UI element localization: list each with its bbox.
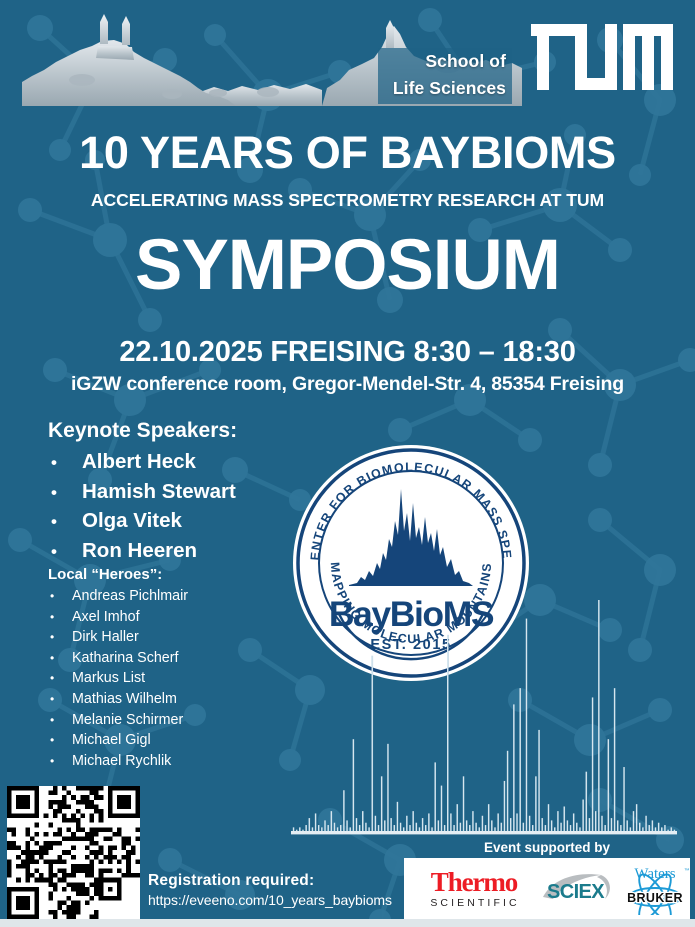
spectrum-peak	[463, 776, 465, 832]
spectrum-peak	[343, 790, 345, 832]
spectrum-peak	[318, 825, 320, 832]
keynote-speaker-name: Olga Vitek	[82, 507, 182, 536]
spectrum-peak	[658, 823, 660, 832]
spectrum-peak	[406, 816, 408, 832]
spectrum-peak	[400, 823, 402, 832]
spectrum-peak	[611, 818, 613, 832]
local-speaker-name: Andreas Pichlmair	[72, 586, 188, 607]
spectrum-peak	[592, 697, 594, 832]
local-speaker-list: • Andreas Pichlmair • Axel Imhof • Dirk …	[48, 586, 188, 771]
spectrum-peak	[438, 820, 440, 832]
spectrum-peak	[375, 816, 377, 832]
keynote-speaker-name: Hamish Stewart	[82, 478, 236, 507]
spectrum-peak	[453, 825, 455, 832]
local-speaker-name: Melanie Schirmer	[72, 710, 183, 731]
bullet-icon: •	[48, 751, 72, 772]
spectrum-peak	[456, 804, 458, 832]
spectrum-peak	[305, 825, 307, 832]
thermo-wordmark: Thermo	[431, 869, 517, 896]
spectrum-peak	[516, 813, 518, 832]
spectrum-peak	[519, 688, 521, 832]
bullet-icon: •	[48, 508, 82, 537]
school-line-1: School of	[378, 48, 512, 75]
svg-text:™: ™	[684, 868, 690, 874]
spectrum-peak	[545, 825, 547, 832]
spectrum-peak	[447, 635, 449, 832]
spectrum-peak	[434, 762, 436, 832]
spectrum-peak	[626, 820, 628, 832]
local-speaker-name: Katharina Scherf	[72, 648, 179, 669]
spectrum-peak	[390, 818, 392, 832]
registration-info: Registration required: https://eveeno.co…	[148, 872, 392, 908]
spectrum-peak	[614, 688, 616, 832]
spectrum-peak	[491, 820, 493, 832]
local-speaker-name: Dirk Haller	[72, 627, 139, 648]
spectrum-peak	[359, 825, 361, 832]
spectrum-peak	[570, 825, 572, 832]
spectrum-peak	[507, 751, 509, 832]
registration-url[interactable]: https://eveeno.com/10_years_baybioms	[148, 892, 392, 908]
local-speaker-name: Michael Rychlik	[72, 751, 171, 772]
spectrum-peak	[532, 825, 534, 832]
keynote-speakers-section: Keynote Speakers: • Albert Heck • Hamish…	[48, 419, 237, 566]
spectrum-peak	[538, 730, 540, 832]
bullet-icon: •	[48, 607, 72, 628]
spectrum-peak	[384, 820, 386, 832]
spectrum-peak	[620, 825, 622, 832]
spectrum-peak	[324, 820, 326, 832]
mass-spectrum-chart	[288, 596, 680, 838]
spectrum-peak	[488, 804, 490, 832]
spectrum-peak	[601, 816, 603, 832]
spectrum-peak	[441, 786, 443, 832]
spectrum-peak	[409, 825, 411, 832]
sponsor-logos: Thermo SCIENTIFIC SCIEX Waters ™ BRUKER	[404, 858, 690, 920]
list-item: • Olga Vitek	[48, 507, 237, 537]
spectrum-peak	[664, 825, 666, 832]
spectrum-peak	[469, 825, 471, 832]
spectrum-peak	[485, 825, 487, 832]
spectrum-peak	[604, 825, 606, 832]
school-line-2: Life Sciences	[378, 75, 512, 102]
spectrum-peak	[327, 825, 329, 832]
spectrum-peak	[309, 818, 311, 832]
spectrum-peak	[425, 825, 427, 832]
spectrum-peak	[563, 806, 565, 832]
list-item: • Andreas Pichlmair	[48, 586, 188, 607]
event-type-title: SYMPOSIUM	[0, 225, 695, 306]
spectrum-peak	[608, 739, 610, 832]
list-item: • Hamish Stewart	[48, 478, 237, 508]
list-item: • Ron Heeren	[48, 537, 237, 567]
thermo-subtext: SCIENTIFIC	[428, 897, 519, 910]
sponsor-logo-thermo: Thermo SCIENTIFIC	[404, 869, 538, 910]
local-speaker-name: Mathias Wilhelm	[72, 689, 177, 710]
spectrum-peak	[548, 804, 550, 832]
spectrum-peak	[576, 823, 578, 832]
spectrum-peak	[482, 816, 484, 832]
spectrum-peak	[595, 811, 597, 832]
spectrum-peak	[623, 767, 625, 832]
list-item: • Dirk Haller	[48, 627, 188, 648]
school-of-life-sciences-label: School of Life Sciences	[378, 48, 512, 104]
local-speaker-name: Axel Imhof	[72, 607, 140, 628]
spectrum-peak	[560, 823, 562, 832]
bullet-icon: •	[48, 586, 72, 607]
spectrum-peak	[513, 704, 515, 832]
bottom-edge-strip	[0, 919, 695, 927]
registration-label: Registration required:	[148, 872, 392, 890]
bullet-icon: •	[48, 710, 72, 731]
spectrum-peak	[582, 800, 584, 832]
list-item: • Mathias Wilhelm	[48, 689, 188, 710]
spectrum-peak	[645, 816, 647, 832]
spectrum-peak	[617, 820, 619, 832]
spectrum-peak	[535, 776, 537, 832]
spectrum-peak	[529, 816, 531, 832]
local-speaker-name: Michael Gigl	[72, 730, 151, 751]
list-item: • Axel Imhof	[48, 607, 188, 628]
spectrum-peak	[648, 825, 650, 832]
page-subtitle: ACCELERATING MASS SPECTROMETRY RESEARCH …	[0, 190, 695, 211]
local-speaker-name: Markus List	[72, 668, 145, 689]
event-venue: iGZW conference room, Gregor-Mendel-Str.…	[0, 373, 695, 396]
spectrum-peak	[340, 825, 342, 832]
svg-text:SCIEX: SCIEX	[547, 881, 605, 903]
tum-logo-icon	[531, 24, 673, 90]
spectrum-peak	[315, 813, 317, 832]
spectrum-peak	[346, 820, 348, 832]
spectrum-peak	[598, 600, 600, 832]
spectrum-peak	[387, 744, 389, 832]
spectrum-peak	[331, 811, 333, 832]
spectrum-peak	[589, 818, 591, 832]
spectrum-peak	[428, 813, 430, 832]
svg-text:BRUKER: BRUKER	[627, 891, 683, 905]
registration-qr-code[interactable]	[7, 786, 140, 919]
spectrum-peak	[586, 772, 588, 832]
list-item: • Katharina Scherf	[48, 648, 188, 669]
spectrum-peak	[472, 811, 474, 832]
spectrum-peak	[501, 823, 503, 832]
event-date-time: 22.10.2025 FREISING 8:30 – 18:30	[0, 336, 695, 369]
poster-header: School of Life Sciences	[0, 0, 695, 112]
local-speakers-section: Local “Heroes”: • Andreas Pichlmair • Ax…	[48, 566, 188, 771]
spectrum-peak	[422, 818, 424, 832]
spectrum-peak	[394, 825, 396, 832]
spectrum-peak	[416, 823, 418, 832]
spectrum-peak	[444, 825, 446, 832]
bullet-icon: •	[48, 730, 72, 751]
spectrum-peak	[639, 823, 641, 832]
spectrum-peak	[557, 811, 559, 832]
bullet-icon: •	[48, 449, 82, 478]
page-title: 10 YEARS OF BAYBIOMS	[0, 127, 695, 179]
bullet-icon: •	[48, 627, 72, 648]
spectrum-peak	[450, 813, 452, 832]
bullet-icon: •	[48, 538, 82, 567]
spectrum-peak	[362, 811, 364, 832]
local-heroes-heading: Local “Heroes”:	[48, 566, 188, 583]
spectrum-peak	[567, 820, 569, 832]
spectrum-peak	[365, 823, 367, 832]
spectrum-peak	[466, 820, 468, 832]
spectrum-peak	[378, 825, 380, 832]
svg-text:Waters: Waters	[634, 866, 675, 882]
spectrum-peak	[460, 823, 462, 832]
list-item: • Michael Gigl	[48, 730, 188, 751]
keynote-speaker-list: • Albert Heck • Hamish Stewart • Olga Vi…	[48, 448, 237, 566]
list-item: • Albert Heck	[48, 448, 237, 478]
poster-canvas: School of Life Sciences 10 YEARS OF BAYB…	[0, 0, 695, 927]
spectrum-peak	[412, 811, 414, 832]
spectrum-peak	[551, 820, 553, 832]
spectrum-peak	[334, 823, 336, 832]
bullet-icon: •	[48, 479, 82, 508]
spectrum-peak	[371, 656, 373, 832]
sponsor-logo-sciex: SCIEX	[538, 867, 620, 911]
sponsor-logos-waters-bruker: Waters ™ BRUKER	[620, 863, 690, 915]
spectrum-peak	[356, 818, 358, 832]
list-item: • Michael Rychlik	[48, 751, 188, 772]
list-item: • Melanie Schirmer	[48, 710, 188, 731]
spectrum-peak	[573, 813, 575, 832]
list-item: • Markus List	[48, 668, 188, 689]
keynote-speaker-name: Albert Heck	[82, 448, 196, 477]
spectrum-peak	[636, 804, 638, 832]
spectrum-peak	[541, 818, 543, 832]
bullet-icon: •	[48, 668, 72, 689]
keynote-speaker-name: Ron Heeren	[82, 537, 197, 566]
bullet-icon: •	[48, 689, 72, 710]
spectrum-peak	[497, 813, 499, 832]
spectrum-peak	[510, 818, 512, 832]
sponsors-label: Event supported by	[404, 840, 690, 855]
spectrum-peak	[633, 811, 635, 832]
spectrum-peak	[652, 820, 654, 832]
spectrum-peak	[381, 776, 383, 832]
spectrum-peak	[475, 823, 477, 832]
keynote-heading: Keynote Speakers:	[48, 419, 237, 443]
spectrum-peak	[526, 619, 528, 832]
spectrum-peak	[523, 823, 525, 832]
spectrum-peak	[504, 781, 506, 832]
spectrum-peak	[353, 739, 355, 832]
spectrum-peak	[397, 802, 399, 832]
bullet-icon: •	[48, 648, 72, 669]
